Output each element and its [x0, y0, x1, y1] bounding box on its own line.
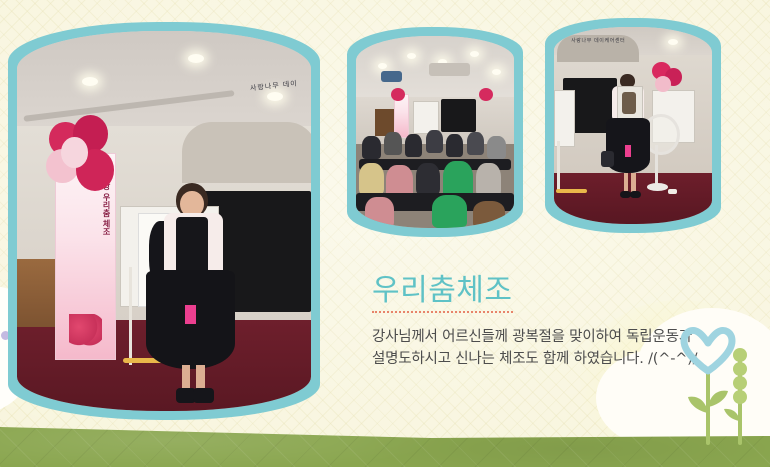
photo-main: 사랑나무 데이 인지향상 우리춤 체조 — [17, 31, 311, 411]
bead-icon — [733, 390, 747, 404]
photo-audience — [356, 36, 514, 228]
photo-frame-instructor[interactable]: 사랑나무 데이케어센터 — [545, 18, 721, 233]
leaf-icon — [688, 397, 708, 413]
heart-flower-decoration — [674, 325, 760, 445]
bead-icon — [733, 348, 747, 362]
bead-icon — [733, 376, 747, 390]
body-paragraph: 강사님께서 어르신들께 광복절을 맞이하여 독립운동가 설명도하시고 신나는 체… — [372, 327, 702, 371]
leaf-icon — [708, 391, 728, 407]
text-block: 우리춤체조 강사님께서 어르신들께 광복절을 맞이하여 독립운동가 설명도하시고… — [372, 275, 702, 370]
bead-icon — [733, 362, 747, 376]
leaf-icon — [724, 409, 740, 421]
photo-frame-audience[interactable] — [347, 27, 523, 237]
slide-canvas: 사랑나무 데이 인지향상 우리춤 체조 — [0, 0, 770, 467]
page-title: 우리춤체조 — [372, 275, 513, 313]
photo-frame-main[interactable]: 사랑나무 데이 인지향상 우리춤 체조 — [8, 22, 320, 420]
heart-flower-icon — [684, 330, 732, 371]
photo-instructor: 사랑나무 데이케어센터 — [554, 27, 712, 224]
